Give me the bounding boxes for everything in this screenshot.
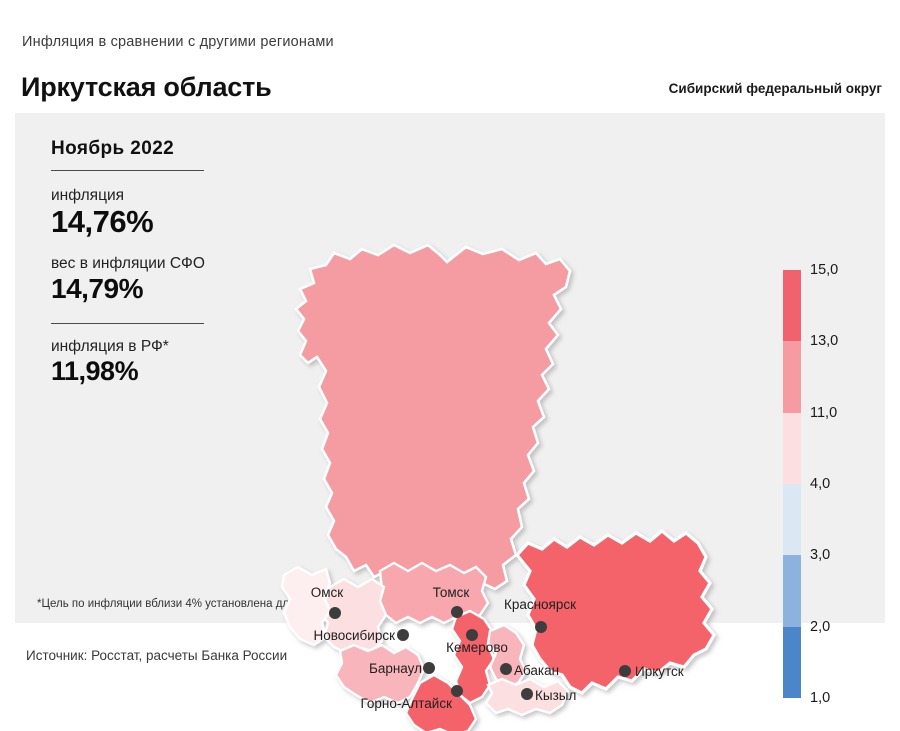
legend-tick-label: 11,0 [810,405,837,421]
city-label: Абакан [514,663,559,678]
page-title: Иркутская область [21,72,272,103]
map-svg: ОмскНовосибирскТомскКрасноярскКемеровоБа… [270,231,770,731]
city-label: Красноярск [504,597,576,612]
legend-band [783,555,801,626]
city-label: Кемерово [446,640,508,655]
map-regions [282,245,714,731]
weight-label: вес в инфляции СФО [51,255,261,273]
inflation-label: инфляция [51,187,261,205]
choropleth-map: ОмскНовосибирскТомскКрасноярскКемеровоБа… [270,231,770,731]
stat-period: Ноябрь 2022 [51,138,261,160]
header: Инфляция в сравнении с другими регионами… [0,0,900,110]
legend-band [783,413,801,484]
legend-tick-label: 1,0 [810,690,830,706]
city-label: Иркутск [635,664,684,679]
legend-band [783,627,801,698]
city-dot[interactable] [535,621,547,633]
rf-inflation-label: инфляция в РФ* [51,338,261,356]
region-krasnoyarsk-krai[interactable] [296,245,570,591]
legend-band [783,270,801,341]
city-dot[interactable] [500,663,512,675]
divider-bottom [51,323,204,324]
city-dot[interactable] [619,665,631,677]
legend-tick-label: 13,0 [810,333,838,349]
content-panel: Ноябрь 2022 инфляция 14,76% вес в инфляц… [15,113,885,623]
city-dot[interactable] [451,685,463,697]
city-label: Томск [433,585,470,600]
inflation-value: 14,76% [51,206,261,239]
rf-inflation-value: 11,98% [51,357,261,385]
city-dot[interactable] [451,606,463,618]
city-label: Горно-Алтайск [360,696,452,711]
stats-block: Ноябрь 2022 инфляция 14,76% вес в инфляц… [51,138,261,385]
legend-tick-label: 2,0 [810,619,830,635]
city-dot[interactable] [521,688,533,700]
legend-band [783,484,801,555]
city-label: Кызыл [535,688,576,703]
city-label: Омск [311,585,344,600]
legend-band [783,341,801,412]
legend-tick-label: 4,0 [810,476,830,492]
legend-tick-label: 15,0 [810,262,838,278]
map-legend: 15,013,011,04,03,02,01,0 [768,270,888,700]
city-label: Барнаул [369,661,422,676]
legend-color-bar [783,270,801,698]
city-label: Новосибирск [313,628,395,643]
source-note: Источник: Росстат, расчеты Банка России [26,648,287,663]
city-dot[interactable] [329,607,341,619]
federal-district-label: Сибирский федеральный округ [669,81,882,96]
weight-value: 14,79% [51,274,261,303]
legend-tick-label: 3,0 [810,547,830,563]
city-dot[interactable] [397,629,409,641]
header-kicker: Инфляция в сравнении с другими регионами [22,34,334,50]
divider-top [51,170,204,171]
city-dot[interactable] [423,662,435,674]
